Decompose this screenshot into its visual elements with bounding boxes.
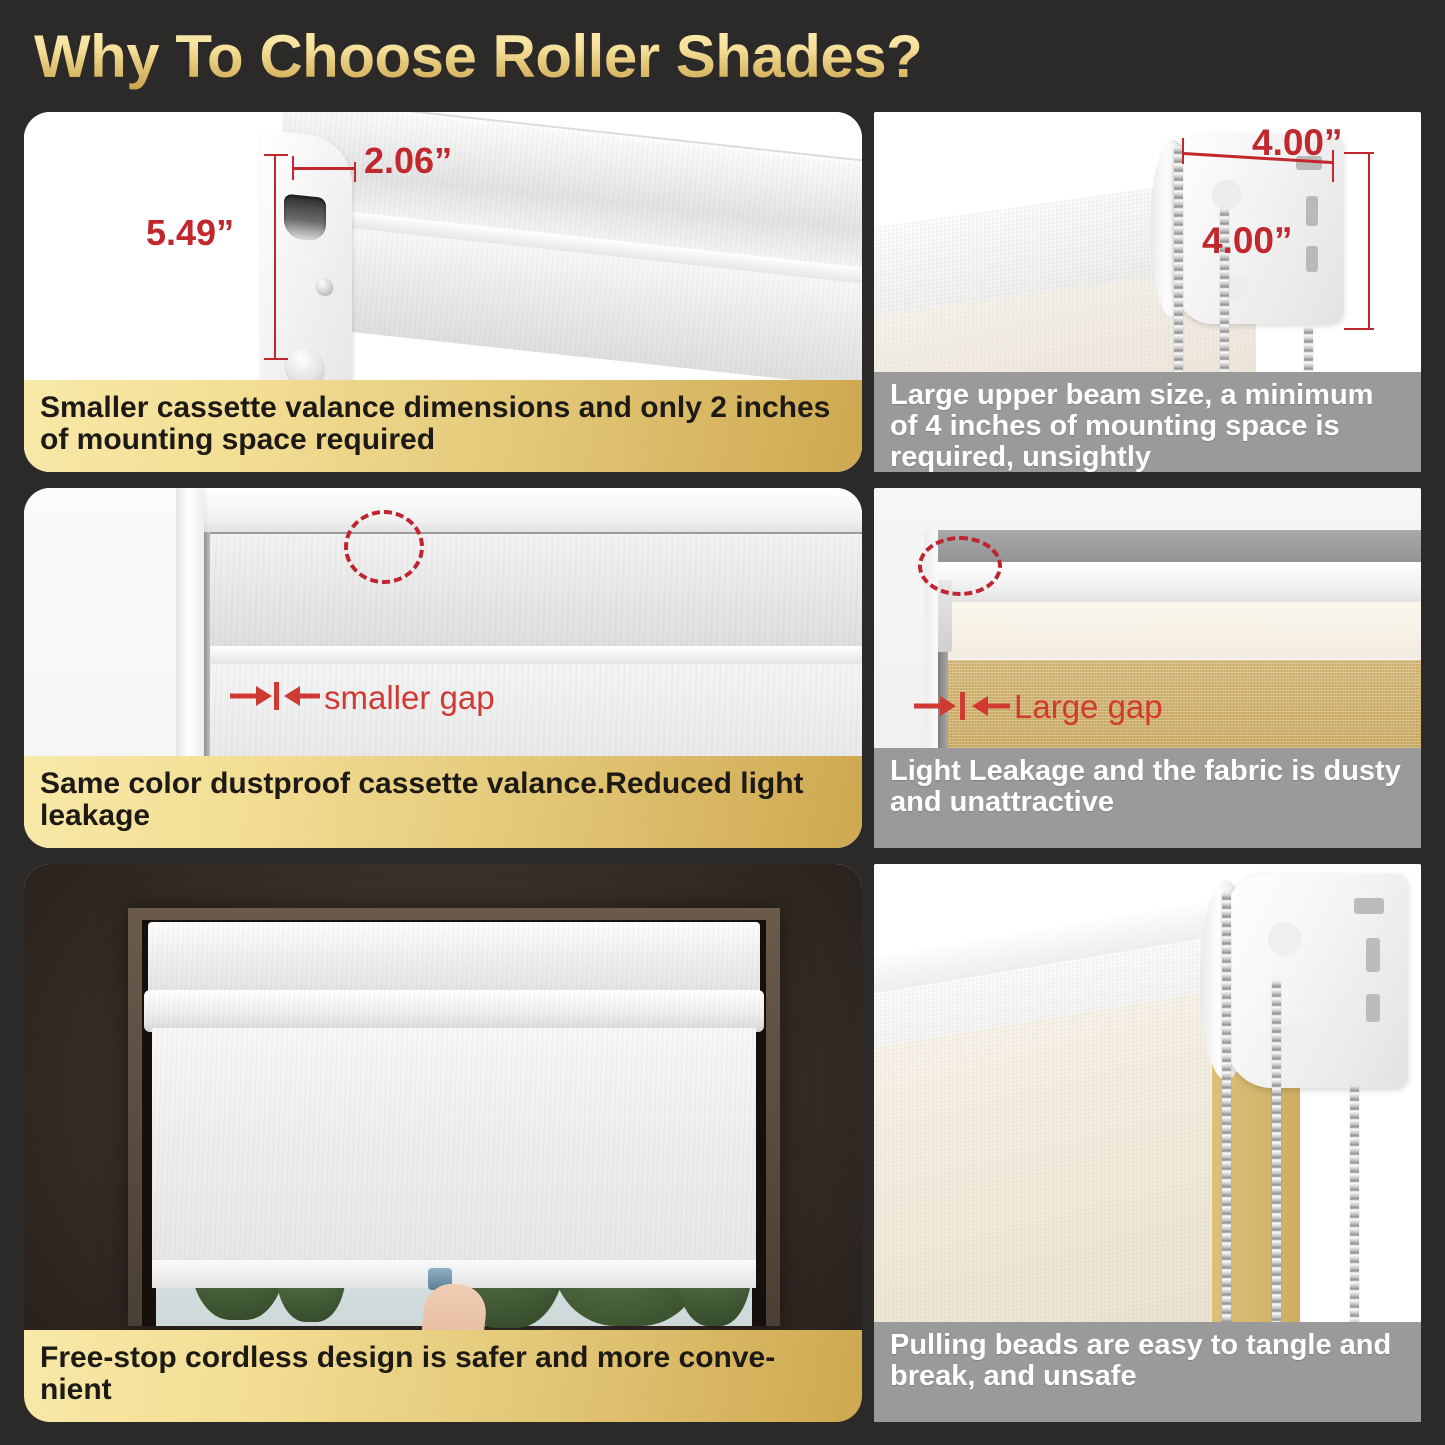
dim-tick-right-206 (354, 162, 356, 182)
dimension-label-beam-height: 4.00” (1202, 220, 1293, 262)
dimension-label-width: 2.06” (364, 140, 452, 182)
window-head-frame (176, 488, 862, 532)
caption-con-large-beam: Large upper beam size, a minimum of 4 in… (874, 372, 1421, 472)
dim-line-vertical-549 (274, 154, 276, 360)
panel-con-large-gap: Large gap Light Leakage and the fabric i… (874, 488, 1421, 848)
gap-callout-large: Large gap (1014, 688, 1163, 726)
cassette-valance-top (148, 922, 760, 998)
fabric-cream-band (934, 602, 1421, 658)
dimension-label-beam-width: 4.00” (1252, 122, 1343, 164)
bead-chain-right (1350, 1084, 1359, 1356)
highlight-ellipse-icon (344, 510, 424, 584)
caption-con-large-gap: Light Leakage and the fabric is dusty an… (874, 748, 1421, 848)
valance-rail (210, 646, 862, 665)
caption-pro-cordless-design: Free-stop cordless design is safer and m… (24, 1330, 862, 1422)
caption-pro-smaller-gap: Same color dustproof cassette valance.Re… (24, 756, 862, 848)
dim-tick-top-400h (1344, 152, 1374, 154)
panel-pro-cassette-dimensions: 2.06” 5.49” Smaller cassette valance dim… (24, 112, 862, 472)
dimension-label-height: 5.49” (146, 212, 234, 254)
panel-con-large-beam: 4.00” 4.00” Large upper beam size, a min… (874, 112, 1421, 472)
panel-pro-smaller-gap: smaller gap Same color dustproof cassett… (24, 488, 862, 848)
dim-tick-bottom-549 (264, 358, 288, 360)
dim-line-vertical-400h (1368, 152, 1370, 330)
caption-pro-cassette-dimensions: Smaller cassette valance dimensions and … (24, 380, 862, 472)
gap-callout-smaller: smaller gap (324, 679, 495, 717)
panel-con-pulling-beads: Pulling beads are easy to tangle and bre… (874, 864, 1421, 1422)
gap-arrows-icon (230, 680, 320, 712)
highlight-ellipse-icon (918, 536, 1002, 596)
comparison-grid: 2.06” 5.49” Smaller cassette valance dim… (0, 0, 1445, 1445)
gap-arrows-icon (914, 690, 1010, 722)
cassette-valance-front (210, 532, 862, 654)
bead-chain-left (1222, 892, 1231, 1356)
valance-lower-lip (144, 990, 764, 1032)
shade-fabric-panel (152, 1028, 756, 1272)
dim-tick-bottom-400h (1344, 328, 1374, 330)
caption-con-pulling-beads: Pulling beads are easy to tangle and bre… (874, 1322, 1421, 1422)
dim-arrow-206 (294, 167, 356, 170)
dim-tick-top-549 (264, 154, 288, 156)
bead-chain-middle (1272, 980, 1281, 1356)
panel-pro-cordless-design: Free-stop cordless design is safer and m… (24, 864, 862, 1422)
mounting-bracket (1226, 874, 1408, 1088)
